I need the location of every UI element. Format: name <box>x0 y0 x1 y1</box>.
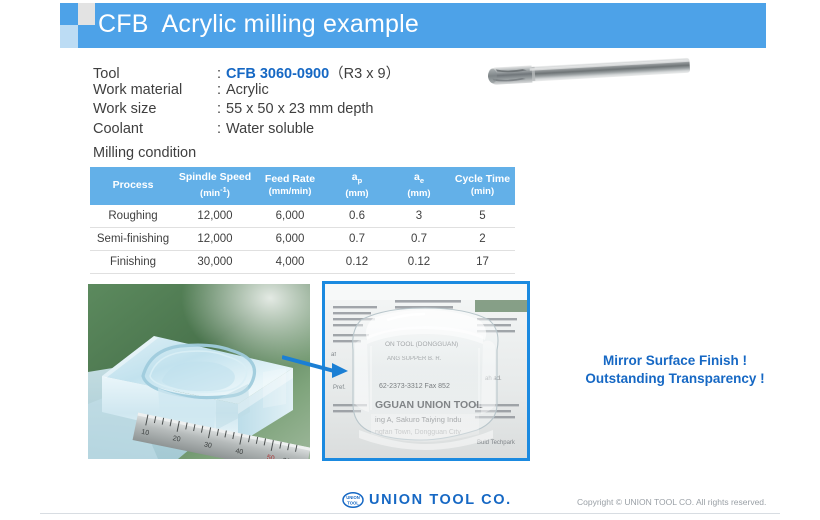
cell-process: Semi-finishing <box>90 228 176 251</box>
spec-label-work-size: Work size <box>93 101 217 117</box>
specification-list: Tool : CFB 3060-0900（R3 x 9） Work materi… <box>93 62 400 140</box>
callout-line-2: Outstanding Transparency ! <box>530 370 820 388</box>
cell-cycle-time: 17 <box>450 251 515 274</box>
column-header-spindle-speed-unit: (min-1) <box>176 184 254 201</box>
spec-value-coolant: Water soluble <box>226 121 314 137</box>
spec-row-tool: Tool : CFB 3060-0900（R3 x 9） <box>93 62 400 82</box>
column-header-ae-unit: (mm) <box>388 188 450 201</box>
column-header-ae-label: ae <box>414 171 424 183</box>
spec-row-work-size: Work size : 55 x 50 x 23 mm depth <box>93 101 400 121</box>
column-header-cycle-time: Cycle Time (min) <box>450 167 515 205</box>
cell-ae: 0.7 <box>388 228 450 251</box>
cell-cycle-time: 2 <box>450 228 515 251</box>
spec-value-tool: CFB 3060-0900（R3 x 9） <box>226 62 400 83</box>
end-mill-photo <box>478 57 694 89</box>
cell-feed-rate: 6,000 <box>254 228 326 251</box>
column-header-spindle-speed: Spindle Speed (min-1) <box>176 167 254 205</box>
machined-acrylic-block-photo: 1020 3040 5060 <box>88 284 310 459</box>
spec-colon-tool: : <box>217 66 226 82</box>
tool-model-number: CFB 3060-0900 <box>226 66 329 82</box>
union-tool-logo-icon: UNION TOOL <box>342 492 364 508</box>
column-header-ae: ae (mm) <box>388 167 450 205</box>
cell-ap: 0.6 <box>326 205 388 228</box>
transfer-arrow-icon <box>282 352 350 386</box>
table-row: Roughing 12,000 6,000 0.6 3 5 <box>90 205 515 228</box>
table-row: Semi-finishing 12,000 6,000 0.7 0.7 2 <box>90 228 515 251</box>
header-accent-block-gray <box>78 3 95 25</box>
spec-label-work-material: Work material <box>93 82 217 98</box>
column-header-feed-rate: Feed Rate (mm/min) <box>254 167 326 205</box>
column-header-ap-label: ap <box>352 171 362 183</box>
column-header-ap: ap (mm) <box>326 167 388 205</box>
table-header-row: Process Spindle Speed (min-1) Feed Rate … <box>90 167 515 205</box>
svg-text:50: 50 <box>266 454 275 459</box>
logo-mark-top-text: UNION <box>346 495 360 500</box>
footer-logo: UNION TOOL UNION TOOL CO. <box>342 492 512 508</box>
cell-ae: 0.12 <box>388 251 450 274</box>
copyright-text: Copyright © UNION TOOL CO. All rights re… <box>577 497 766 507</box>
tool-radius-note: （R3 x 9） <box>329 66 400 82</box>
cell-ap: 0.12 <box>326 251 388 274</box>
cell-process: Roughing <box>90 205 176 228</box>
header-accent-block-bottom <box>60 25 78 48</box>
cell-spindle-speed: 12,000 <box>176 205 254 228</box>
milling-condition-table: Process Spindle Speed (min-1) Feed Rate … <box>90 167 515 274</box>
cell-spindle-speed: 30,000 <box>176 251 254 274</box>
table-row: Finishing 30,000 4,000 0.12 0.12 17 <box>90 251 515 274</box>
footer-divider <box>40 513 780 514</box>
column-header-feed-rate-label: Feed Rate <box>265 173 315 185</box>
cell-process: Finishing <box>90 251 176 274</box>
spec-value-work-material: Acrylic <box>226 82 269 98</box>
cell-feed-rate: 6,000 <box>254 205 326 228</box>
callout-line-1: Mirror Surface Finish ! <box>530 352 820 370</box>
cell-feed-rate: 4,000 <box>254 251 326 274</box>
cell-spindle-speed: 12,000 <box>176 228 254 251</box>
spec-label-tool: Tool <box>93 66 217 82</box>
footer-logo-text: UNION TOOL CO. <box>369 492 512 508</box>
spec-label-coolant: Coolant <box>93 121 217 137</box>
logo-mark-bottom-text: TOOL <box>347 500 359 505</box>
spec-colon-work-size: : <box>217 101 226 117</box>
spec-row-work-material: Work material : Acrylic <box>93 82 400 102</box>
column-header-cycle-time-unit: (min) <box>450 186 515 199</box>
transparent-acrylic-part-photo: Pref. af ah ad. Buid Techpark 62-2373-33… <box>322 281 530 461</box>
column-header-process-label: Process <box>113 179 154 191</box>
spec-value-work-size: 55 x 50 x 23 mm depth <box>226 101 374 117</box>
column-header-spindle-speed-label: Spindle Speed <box>179 171 251 183</box>
spec-colon-work-material: : <box>217 82 226 98</box>
column-header-process: Process <box>90 167 176 205</box>
column-header-feed-rate-unit: (mm/min) <box>254 186 326 199</box>
column-header-cycle-time-label: Cycle Time <box>455 173 510 185</box>
cell-ae: 3 <box>388 205 450 228</box>
spec-colon-coolant: : <box>217 121 226 137</box>
column-header-ap-unit: (mm) <box>326 188 388 201</box>
header-accent-block-top <box>60 3 78 25</box>
result-callout: Mirror Surface Finish ! Outstanding Tran… <box>530 352 820 388</box>
milling-condition-label: Milling condition <box>93 145 196 161</box>
spec-row-coolant: Coolant : Water soluble <box>93 121 400 141</box>
page-title: CFB Acrylic milling example <box>98 10 419 39</box>
cell-ap: 0.7 <box>326 228 388 251</box>
cell-cycle-time: 5 <box>450 205 515 228</box>
